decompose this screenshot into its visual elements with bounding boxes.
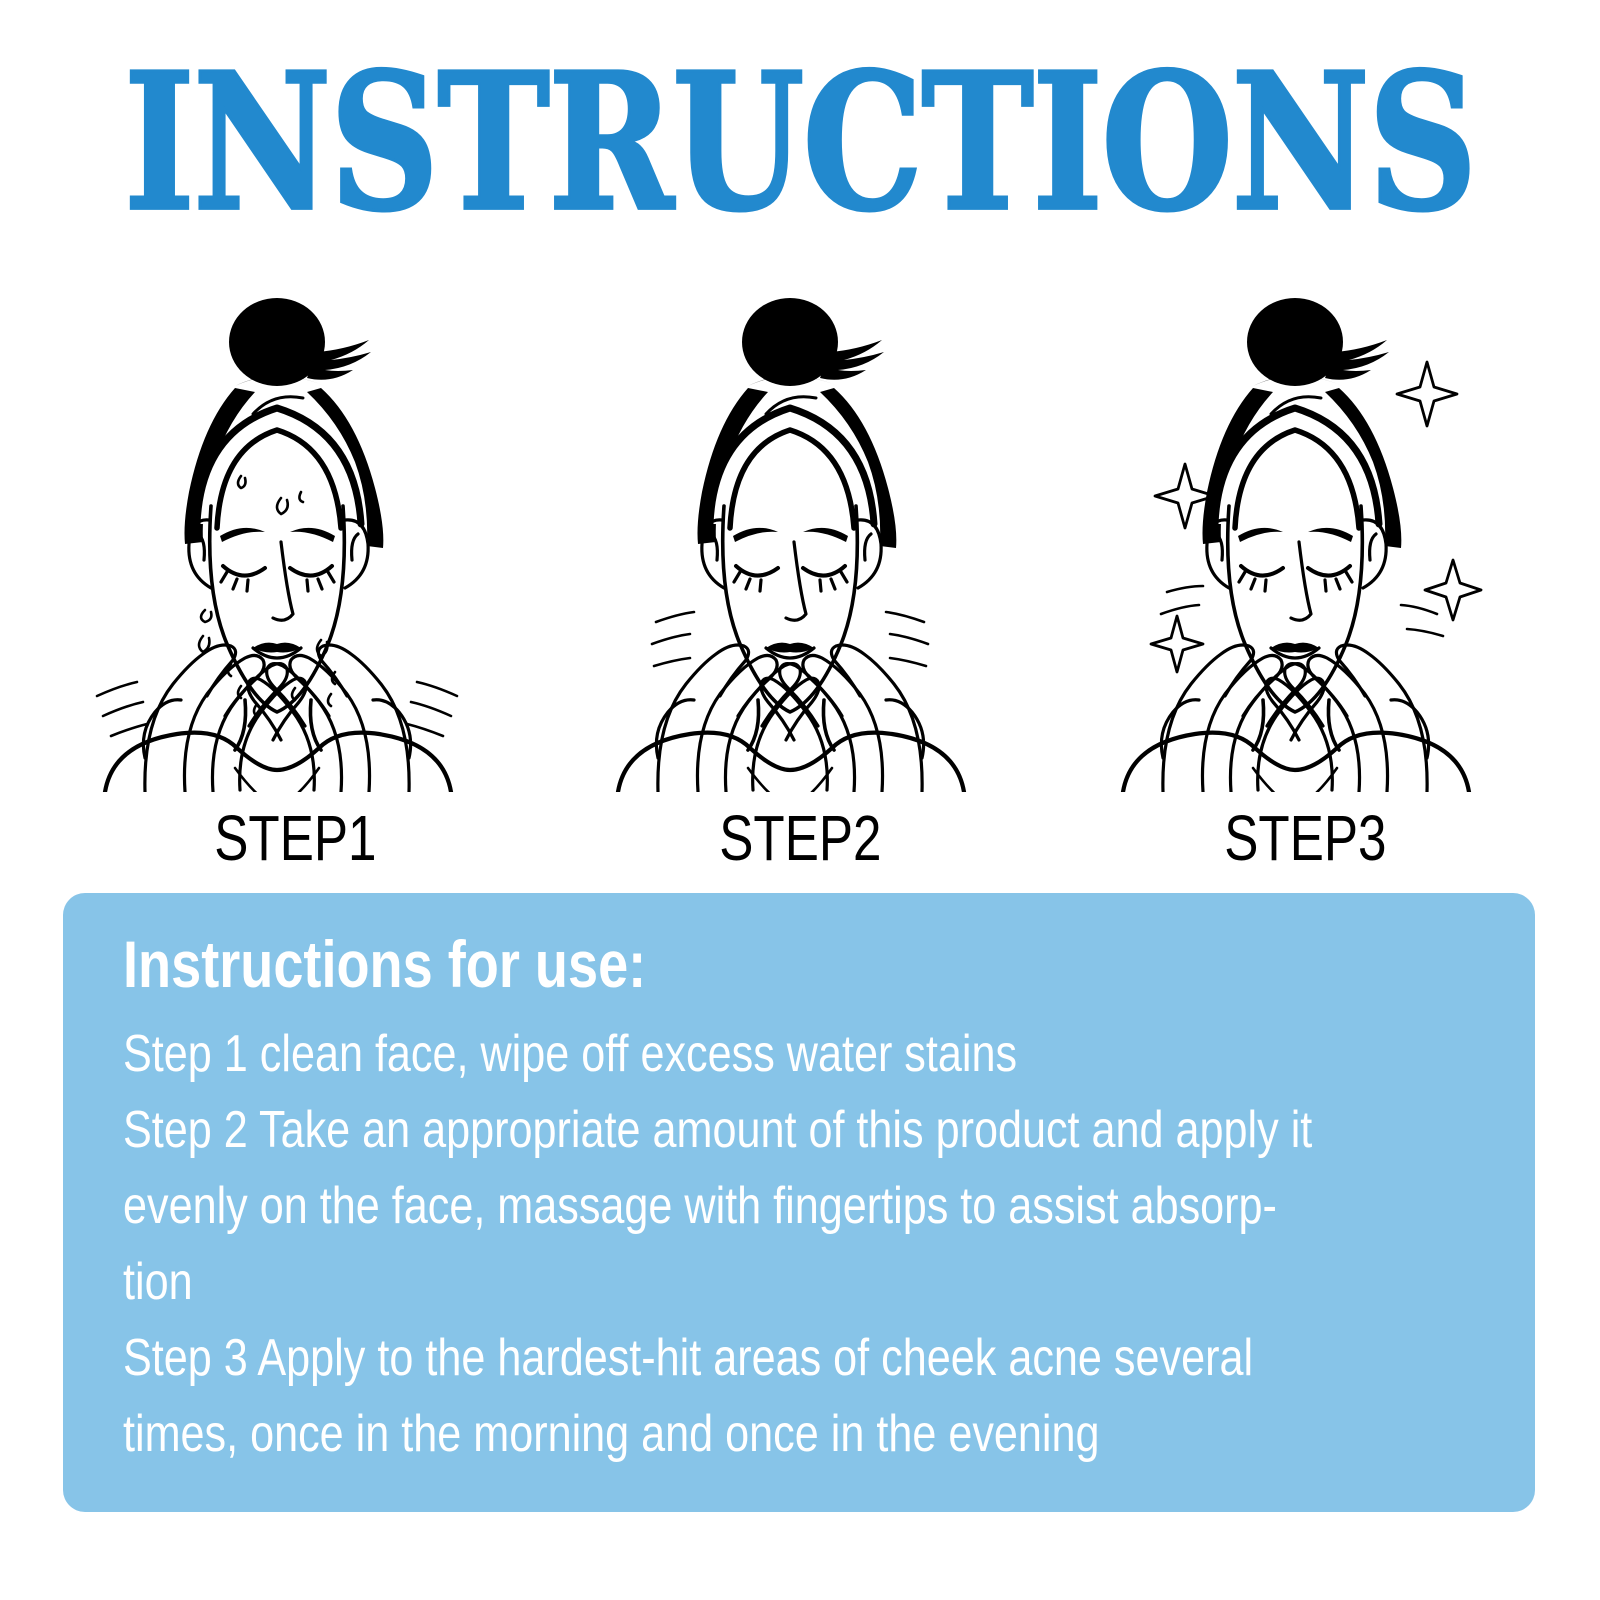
instructions-line: evenly on the face, massage with fingert… [123, 1168, 1486, 1244]
motion-lines [1161, 586, 1443, 636]
instructions-panel-body: Step 1 clean face, wipe off excess water… [123, 1016, 1486, 1472]
page-title-container: INSTRUCTIONS [0, 58, 1600, 228]
instructions-line: Step 1 clean face, wipe off excess water… [123, 1016, 1486, 1092]
step1-illustration [85, 292, 505, 792]
step-label-3: STEP3 [1224, 806, 1386, 870]
closed-eyes-icon [734, 566, 847, 591]
step-label-1: STEP1 [214, 806, 376, 870]
step-column-1: STEP1 [60, 292, 530, 882]
instructions-panel-heading: Instructions for use: [123, 931, 1241, 998]
instructions-panel: Instructions for use: Step 1 clean face,… [63, 893, 1535, 1512]
step2-illustration [590, 292, 1010, 792]
step-column-2: STEP2 [565, 292, 1035, 882]
steps-row: STEP1 [60, 292, 1540, 882]
step3-illustration [1095, 292, 1515, 792]
hair-bun-icon [1247, 298, 1389, 386]
page-title: INSTRUCTIONS [124, 49, 1476, 237]
instructions-line: tion [123, 1244, 1486, 1320]
step-label-2: STEP2 [719, 806, 881, 870]
closed-eyes-icon [221, 566, 334, 591]
hair-bun-icon [742, 298, 884, 386]
instructions-page: INSTRUCTIONS [0, 0, 1600, 1600]
hair-bun-icon [229, 298, 371, 386]
step-column-3: STEP3 [1070, 292, 1540, 882]
closed-eyes-icon [1239, 566, 1352, 591]
instructions-line: times, once in the morning and once in t… [123, 1396, 1486, 1472]
instructions-line: Step 2 Take an appropriate amount of thi… [123, 1092, 1486, 1168]
instructions-line: Step 3 Apply to the hardest-hit areas of… [123, 1320, 1486, 1396]
